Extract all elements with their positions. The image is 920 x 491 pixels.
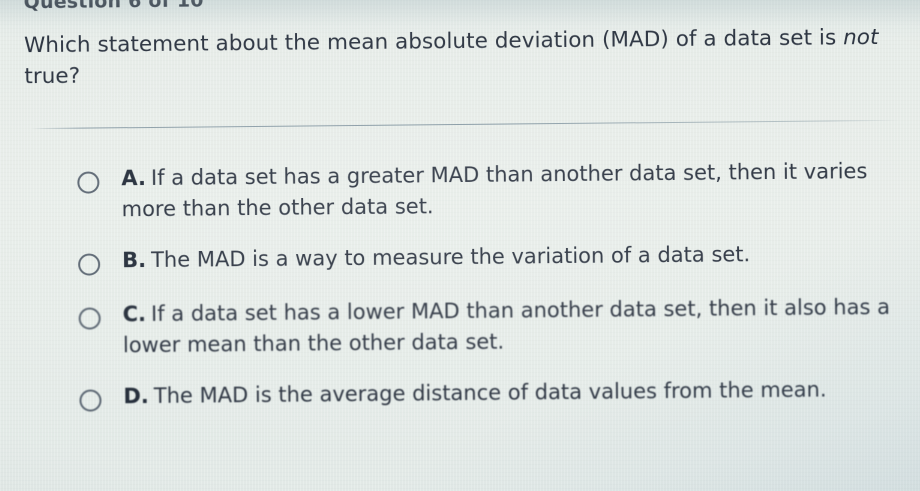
answer-option-b-letter: B. bbox=[122, 248, 146, 272]
radio-button-d-icon[interactable] bbox=[79, 389, 101, 411]
question-prompt-prefix: Which statement about the mean absolute … bbox=[24, 25, 843, 58]
answer-option-b-body: B.The MAD is a way to measure the variat… bbox=[122, 238, 892, 276]
quiz-screen: Question 6 of 10 Which statement about t… bbox=[0, 0, 920, 491]
answer-option-d[interactable]: D.The MAD is the average distance of dat… bbox=[1, 374, 920, 417]
question-prompt: Which statement about the mean absolute … bbox=[24, 22, 880, 92]
answer-option-c-letter: C. bbox=[123, 302, 147, 326]
answer-option-a-text: If a data set has a greater MAD than ano… bbox=[122, 159, 868, 221]
answer-option-d-body: D.The MAD is the average distance of dat… bbox=[123, 374, 893, 412]
answer-option-a-body: A.If a data set has a greater MAD than a… bbox=[121, 156, 892, 225]
question-counter-container: Question 6 of 10 bbox=[24, 0, 354, 13]
radio-button-c-icon[interactable] bbox=[79, 307, 101, 329]
answer-option-b-text: The MAD is a way to measure the variatio… bbox=[151, 242, 750, 272]
answer-option-c-body: C.If a data set has a lower MAD than ano… bbox=[123, 292, 894, 361]
section-divider bbox=[31, 120, 899, 129]
question-prompt-suffix: true? bbox=[24, 64, 80, 90]
radio-button-a-icon[interactable] bbox=[77, 171, 99, 193]
answer-option-c-text: If a data set has a lower MAD than anoth… bbox=[123, 295, 890, 357]
question-counter: Question 6 of 10 bbox=[24, 0, 354, 13]
answer-option-c[interactable]: C.If a data set has a lower MAD than ano… bbox=[1, 292, 920, 363]
radio-button-b-icon[interactable] bbox=[78, 253, 100, 275]
answer-option-a-letter: A. bbox=[121, 166, 146, 190]
answer-option-d-text: The MAD is the average distance of data … bbox=[154, 377, 827, 407]
question-prompt-emphasis: not bbox=[843, 25, 879, 50]
answer-options-list: A.If a data set has a greater MAD than a… bbox=[0, 156, 920, 437]
answer-option-a[interactable]: A.If a data set has a greater MAD than a… bbox=[0, 156, 920, 227]
answer-option-d-letter: D. bbox=[123, 384, 149, 408]
quiz-content: Question 6 of 10 Which statement about t… bbox=[0, 0, 920, 491]
answer-option-b[interactable]: B.The MAD is a way to measure the variat… bbox=[0, 238, 920, 281]
